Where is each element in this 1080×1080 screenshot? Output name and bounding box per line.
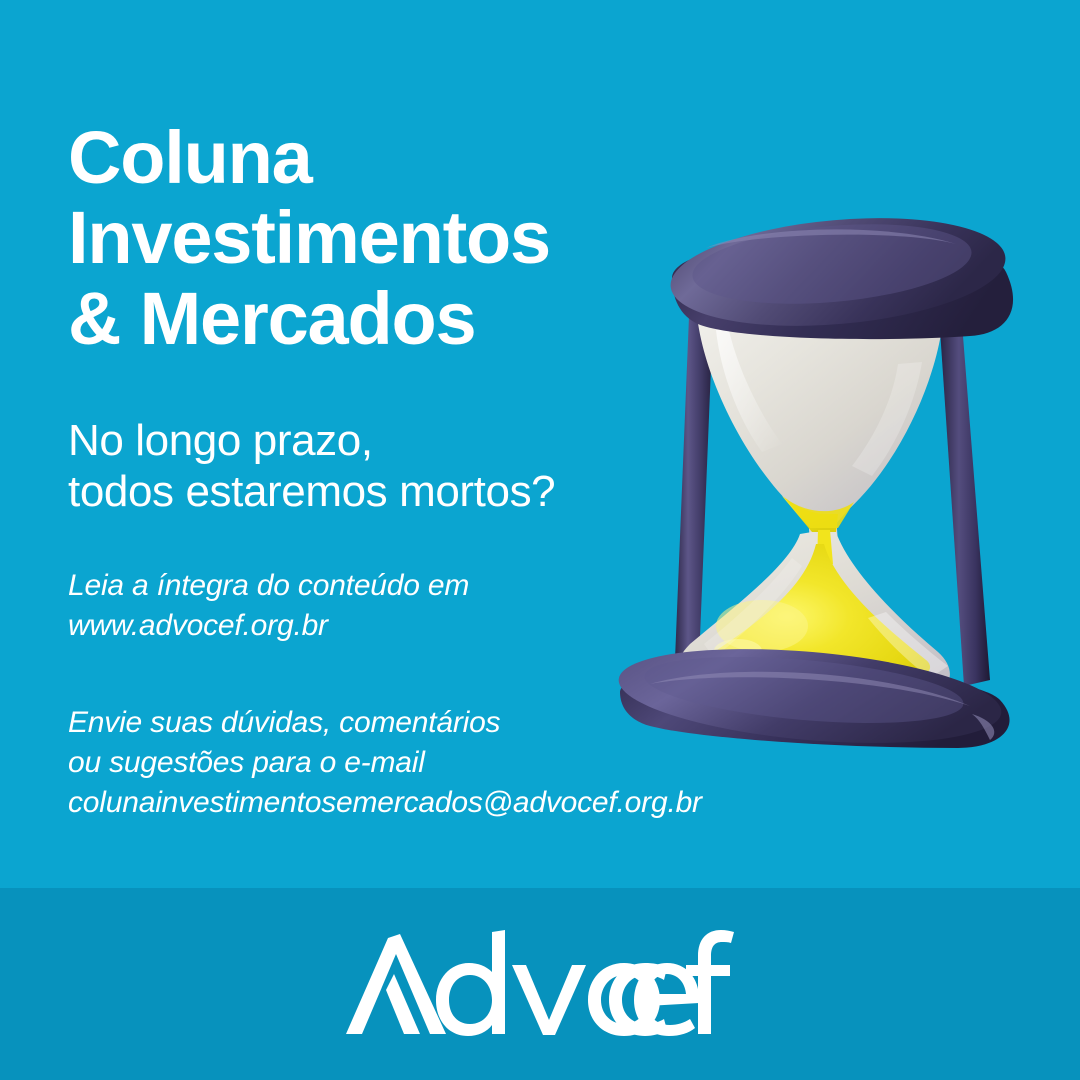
email-note: Envie suas dúvidas, comentários ou suges… <box>68 703 702 823</box>
website-note: Leia a íntegra do conteúdo em www.advoce… <box>68 566 469 646</box>
poster-canvas: Coluna Investimentos & Mercados No longo… <box>0 0 1080 1080</box>
subtitle: No longo prazo, todos estaremos mortos? <box>68 415 555 518</box>
page-title: Coluna Investimentos & Mercados <box>68 118 550 359</box>
footer-band: Advocef <box>0 888 1080 1080</box>
advocef-logo[interactable]: Advocef <box>344 930 736 1038</box>
